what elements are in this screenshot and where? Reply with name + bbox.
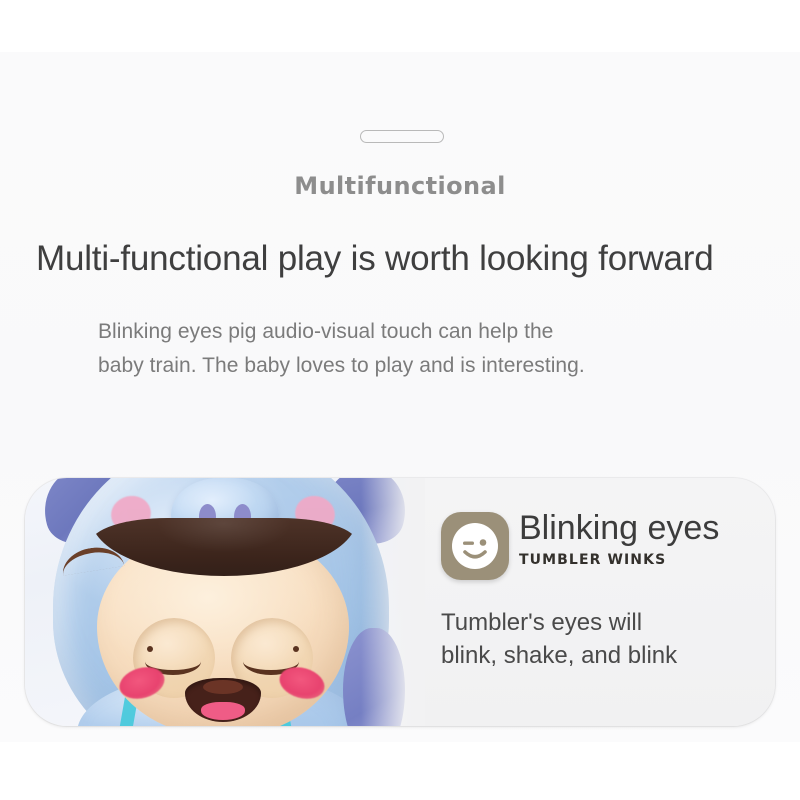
- description-line-2: baby train. The baby loves to play and i…: [98, 349, 718, 383]
- headline-container: Multi-functional play is worth looking f…: [0, 232, 800, 288]
- feature-description: Tumbler's eyes will blink, shake, and bl…: [441, 606, 749, 672]
- pill-divider-icon: [360, 130, 444, 143]
- feature-card[interactable]: Blinking eyes TUMBLER WINKS Tumbler's ey…: [25, 478, 775, 726]
- feature-header: Blinking eyes TUMBLER WINKS: [441, 510, 749, 584]
- tongue: [201, 702, 245, 720]
- page-root: Multifunctional Multi-functional play is…: [0, 0, 800, 800]
- feature-text-block: Blinking eyes TUMBLER WINKS Tumbler's ey…: [425, 478, 775, 726]
- product-photo: [25, 478, 425, 726]
- section-eyebrow-label: Multifunctional: [0, 172, 800, 200]
- smiling-mouth: [185, 678, 261, 722]
- feature-subtitle: TUMBLER WINKS: [519, 552, 719, 568]
- description-line-1: Blinking eyes pig audio-visual touch can…: [98, 315, 718, 349]
- winking-smiley-icon: [441, 512, 509, 580]
- feature-title: Blinking eyes: [519, 506, 719, 550]
- eye-dot-left: [147, 646, 153, 652]
- feature-description-line-2: blink, shake, and blink: [441, 639, 749, 672]
- eye-dot-right: [293, 646, 299, 652]
- page-title: Multi-functional play is worth looking f…: [36, 232, 714, 286]
- feature-title-group: Blinking eyes TUMBLER WINKS: [519, 506, 719, 568]
- photo-edge-fade: [361, 478, 425, 726]
- section-description: Blinking eyes pig audio-visual touch can…: [98, 315, 718, 383]
- feature-description-line-1: Tumbler's eyes will: [441, 606, 749, 639]
